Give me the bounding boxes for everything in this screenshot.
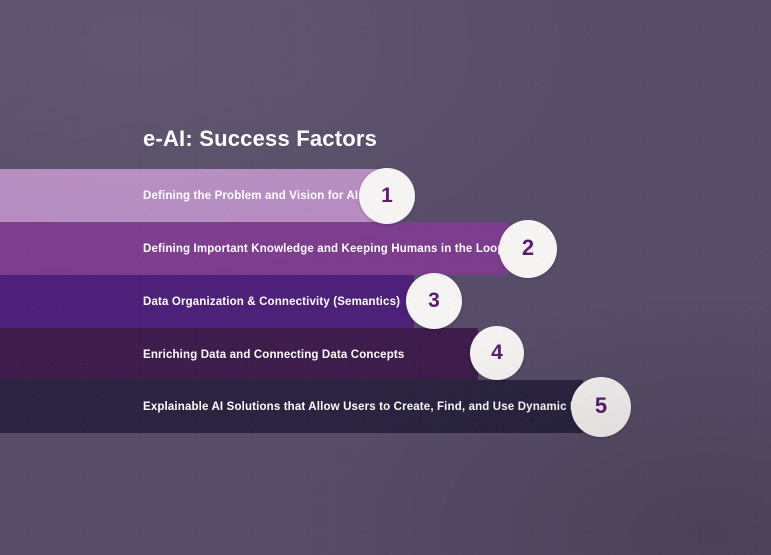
step-number-text: 1 (381, 185, 393, 206)
step-number-text: 5 (595, 395, 607, 417)
step-number-badge[interactable]: 1 (359, 168, 415, 224)
step-number-badge[interactable]: 5 (571, 377, 631, 437)
step-bar[interactable]: Defining Important Knowledge and Keeping… (0, 222, 508, 275)
step-label: Data Organization & Connectivity (Semant… (143, 296, 400, 308)
step-label: Enriching Data and Connecting Data Conce… (143, 349, 404, 361)
step-number-badge[interactable]: 3 (406, 273, 462, 329)
step-bar[interactable]: Enriching Data and Connecting Data Conce… (0, 328, 478, 381)
page-title: e-AI: Success Factors (143, 126, 377, 152)
step-bar[interactable]: Data Organization & Connectivity (Semant… (0, 275, 414, 328)
step-number-badge[interactable]: 2 (499, 220, 557, 278)
step-label: Defining Important Knowledge and Keeping… (143, 243, 505, 255)
step-number-text: 2 (522, 237, 534, 259)
step-bar[interactable]: Explainable AI Solutions that Allow User… (0, 380, 583, 433)
step-number-text: 3 (428, 290, 440, 311)
step-number-text: 4 (491, 342, 503, 363)
step-bar[interactable]: Defining the Problem and Vision for AI (0, 169, 391, 222)
step-number-badge[interactable]: 4 (470, 326, 524, 380)
step-label: Defining the Problem and Vision for AI (143, 190, 358, 202)
slide-canvas: Defining the Problem and Vision for AIDe… (0, 0, 771, 555)
step-label: Explainable AI Solutions that Allow User… (143, 401, 596, 413)
